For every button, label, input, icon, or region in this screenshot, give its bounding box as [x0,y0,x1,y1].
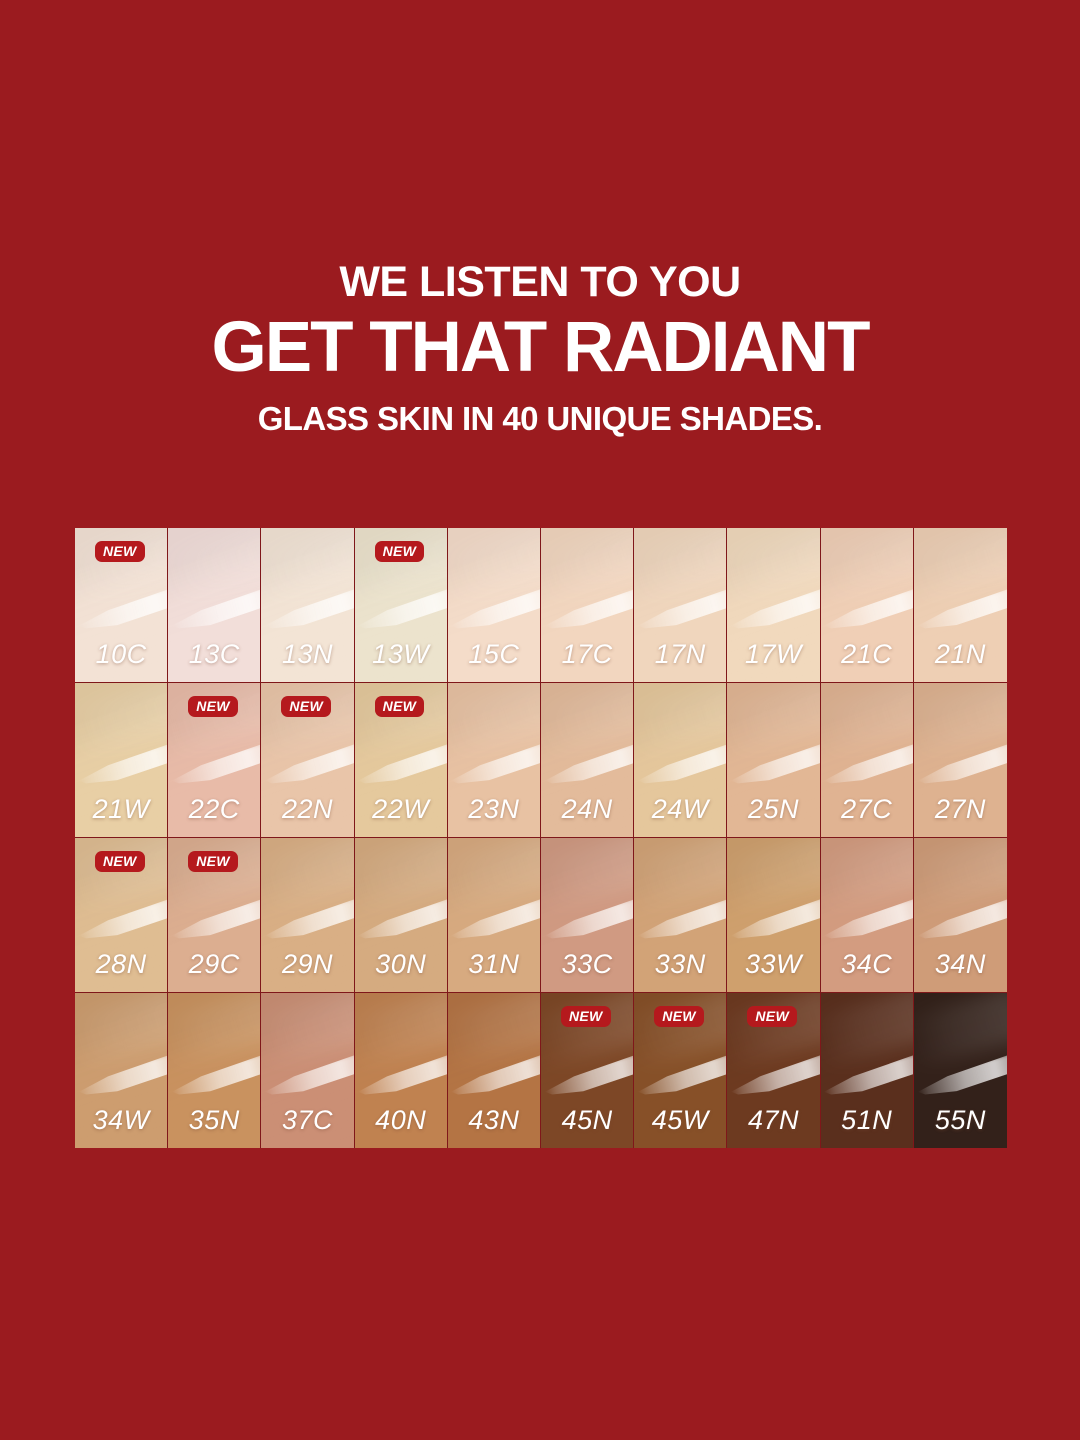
shade-swatch[interactable]: 23N [448,683,541,838]
shade-code-label: 10C [75,639,167,670]
shade-code-label: 35N [168,1105,260,1136]
shade-swatch[interactable]: 17N [634,528,727,683]
shade-code-label: 47N [727,1105,819,1136]
new-badge: NEW [375,696,425,717]
shade-code-label: 21N [914,639,1007,670]
shade-swatch[interactable]: 35N [168,993,261,1148]
shade-code-label: 23N [448,794,540,825]
shade-code-label: 33C [541,949,633,980]
shade-code-label: 24N [541,794,633,825]
shade-code-label: 34C [821,949,913,980]
shade-swatch[interactable]: 13N [261,528,354,683]
shade-swatch[interactable]: 21N [914,528,1007,683]
shade-swatch[interactable]: 24W [634,683,727,838]
shade-swatch[interactable]: 34N [914,838,1007,993]
shade-code-label: 17N [634,639,726,670]
shade-code-label: 15C [448,639,540,670]
shade-code-label: 43N [448,1105,540,1136]
shade-swatch[interactable]: 30N [355,838,448,993]
shade-code-label: 51N [821,1105,913,1136]
new-badge: NEW [747,1006,797,1027]
shade-swatch[interactable]: 21W [75,683,168,838]
shade-swatch[interactable]: 55N [914,993,1007,1148]
new-badge: NEW [95,851,145,872]
shade-code-label: 28N [75,949,167,980]
shade-swatch[interactable]: NEW22N [261,683,354,838]
shade-swatch[interactable]: 17C [541,528,634,683]
shade-code-label: 17W [727,639,819,670]
new-badge: NEW [561,1006,611,1027]
shade-code-label: 13C [168,639,260,670]
shade-code-label: 37C [261,1105,353,1136]
shade-swatch[interactable]: 31N [448,838,541,993]
shade-swatch[interactable]: NEW22W [355,683,448,838]
shade-code-label: 40N [355,1105,447,1136]
shade-code-label: 13N [261,639,353,670]
shade-swatch[interactable]: 25N [727,683,820,838]
shade-code-label: 22N [261,794,353,825]
shade-swatch[interactable]: 33C [541,838,634,993]
headline-line-2: GET THAT RADIANT [0,310,1080,387]
shade-code-label: 13W [355,639,447,670]
shade-code-label: 34W [75,1105,167,1136]
new-badge: NEW [188,851,238,872]
shade-code-label: 34N [914,949,1007,980]
shade-code-label: 27N [914,794,1007,825]
shade-code-label: 45W [634,1105,726,1136]
shade-swatch[interactable]: NEW10C [75,528,168,683]
shade-swatch[interactable]: NEW45W [634,993,727,1148]
shade-code-label: 31N [448,949,540,980]
shade-code-label: 29N [261,949,353,980]
shade-code-label: 27C [821,794,913,825]
shade-code-label: 21W [75,794,167,825]
headline-line-1: WE LISTEN TO YOU [0,258,1080,306]
shade-swatch[interactable]: 40N [355,993,448,1148]
shade-swatch[interactable]: 21C [821,528,914,683]
shade-swatch[interactable]: NEW13W [355,528,448,683]
shade-swatch[interactable]: 43N [448,993,541,1148]
shade-code-label: 30N [355,949,447,980]
shade-code-label: 22W [355,794,447,825]
shade-code-label: 33N [634,949,726,980]
shade-swatch[interactable]: 33N [634,838,727,993]
new-badge: NEW [375,541,425,562]
shade-code-label: 25N [727,794,819,825]
shade-swatch[interactable]: NEW45N [541,993,634,1148]
headline-line-3: GLASS SKIN IN 40 UNIQUE SHADES. [0,401,1080,437]
shade-swatch[interactable]: 13C [168,528,261,683]
new-badge: NEW [654,1006,704,1027]
shade-swatch[interactable]: 27C [821,683,914,838]
shade-code-label: 55N [914,1105,1007,1136]
shade-swatch[interactable]: 15C [448,528,541,683]
shade-code-label: 17C [541,639,633,670]
shade-swatch[interactable]: 24N [541,683,634,838]
shade-swatch[interactable]: 37C [261,993,354,1148]
shade-swatch[interactable]: 27N [914,683,1007,838]
shade-code-label: 21C [821,639,913,670]
shade-swatch[interactable]: 34W [75,993,168,1148]
shade-swatch[interactable]: NEW28N [75,838,168,993]
shade-code-label: 29C [168,949,260,980]
shade-swatch[interactable]: 33W [727,838,820,993]
new-badge: NEW [281,696,331,717]
shade-code-label: 33W [727,949,819,980]
shade-swatch[interactable]: 17W [727,528,820,683]
new-badge: NEW [188,696,238,717]
shade-swatch[interactable]: 29N [261,838,354,993]
shade-code-label: 24W [634,794,726,825]
headline-block: WE LISTEN TO YOU GET THAT RADIANT GLASS … [0,258,1080,437]
shade-code-label: 45N [541,1105,633,1136]
shade-swatch[interactable]: NEW47N [727,993,820,1148]
shade-swatch[interactable]: NEW29C [168,838,261,993]
new-badge: NEW [95,541,145,562]
shade-swatch[interactable]: NEW22C [168,683,261,838]
shade-swatch[interactable]: 34C [821,838,914,993]
shade-code-label: 22C [168,794,260,825]
shade-swatch[interactable]: 51N [821,993,914,1148]
shade-grid: NEW10C13C13NNEW13W15C17C17N17W21C21N21WN… [75,528,1007,1148]
